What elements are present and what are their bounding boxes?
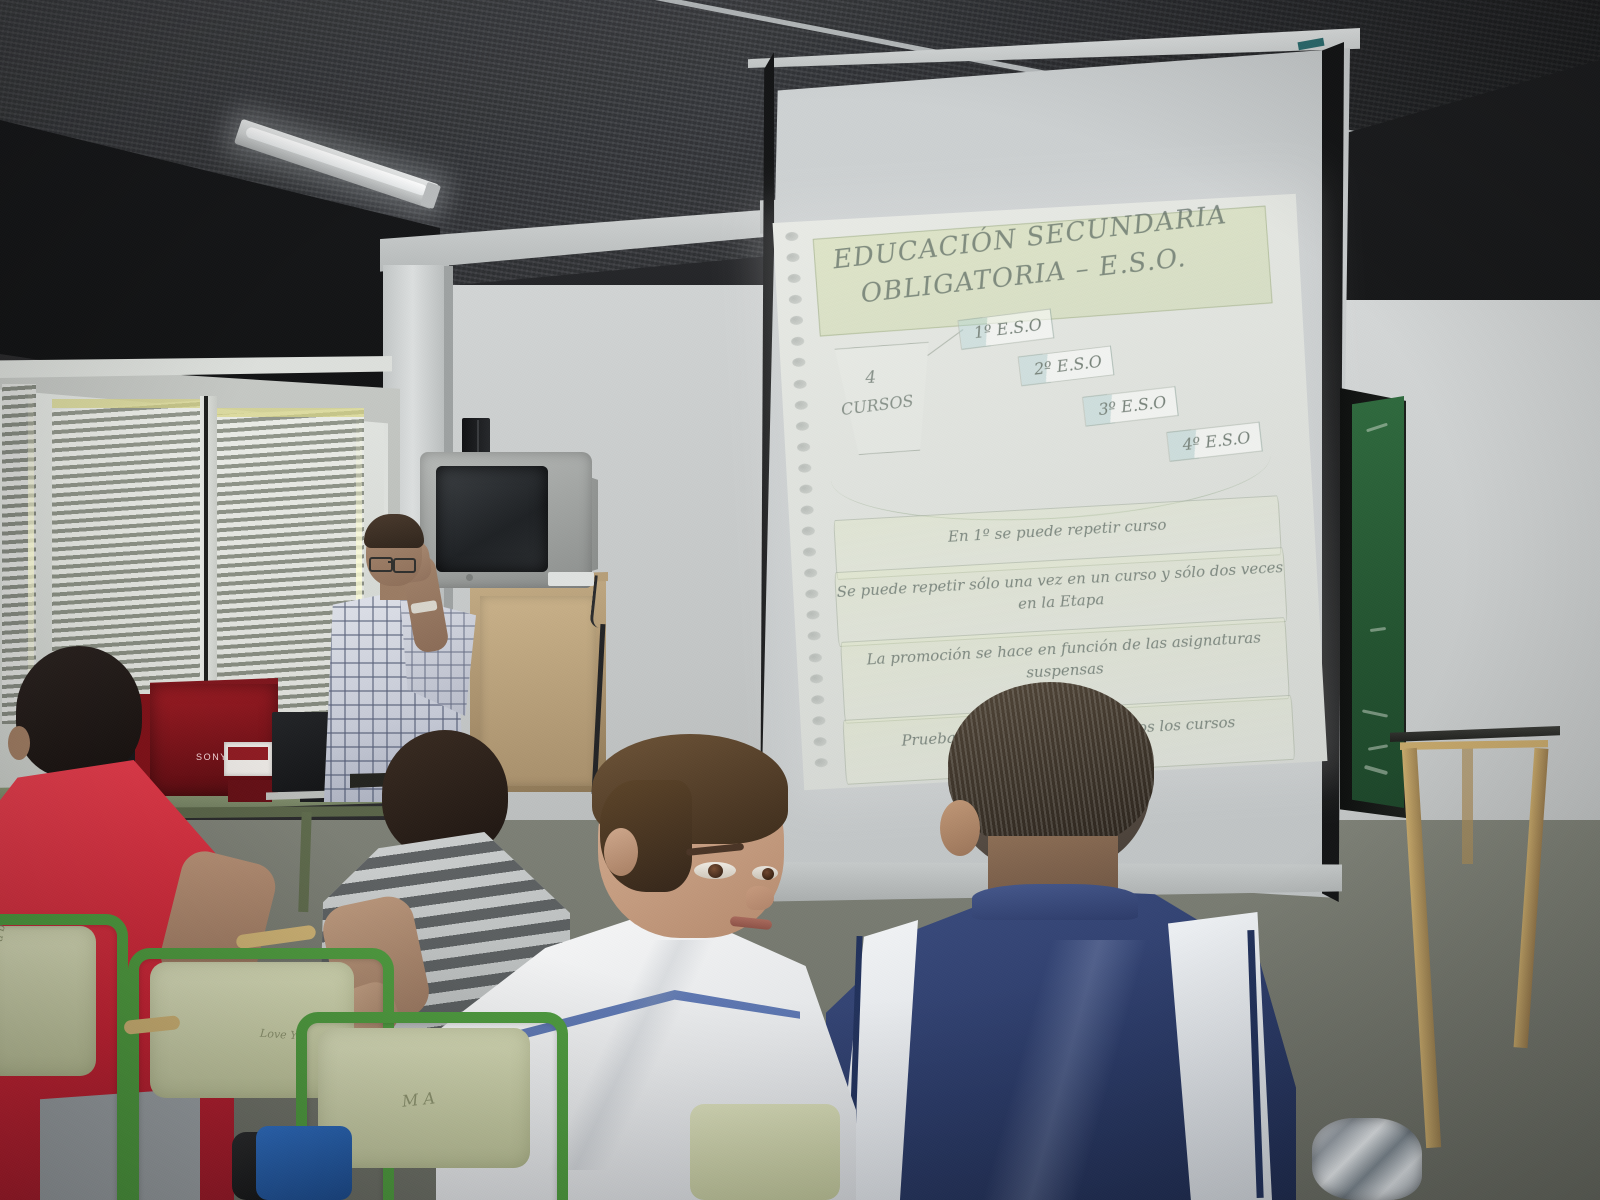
sony-box-lower-panel [228, 780, 272, 802]
man-navy-ear [940, 800, 980, 856]
crt-tv-screen [436, 466, 548, 572]
student-red-ear [8, 726, 30, 760]
blue-bag [256, 1126, 352, 1200]
punch-hole [812, 716, 825, 726]
chair-backrest-right[interactable] [690, 1104, 840, 1200]
course-label-2: 2º E.S.O [1018, 345, 1115, 386]
cursos-count: 4 [865, 368, 877, 389]
student-white-ear [604, 828, 638, 876]
punch-hole [802, 526, 815, 536]
chalk-mark [1364, 765, 1388, 775]
punch-hole [792, 358, 805, 368]
punch-hole [805, 589, 818, 599]
student-white-iris-left [708, 864, 723, 878]
sony-box-sticker-inner [228, 747, 268, 760]
punch-hole [806, 610, 819, 620]
punch-hole [791, 337, 804, 347]
chalk-mark [1362, 709, 1388, 717]
student-white-iris-right [762, 868, 774, 880]
chalk-mark [1370, 627, 1386, 632]
punch-hole [789, 295, 802, 305]
course-label-3: 3º E.S.O [1082, 386, 1179, 427]
punch-hole [786, 253, 799, 263]
student-red-head [16, 646, 142, 778]
blind-headrail-left [52, 399, 210, 408]
punch-hole [798, 463, 811, 473]
punch-hole [813, 737, 826, 747]
tracksuit-collar [972, 884, 1138, 920]
student-white-nose [746, 886, 774, 910]
punch-hole [799, 484, 812, 494]
punch-hole [815, 758, 828, 768]
green-chalkboard [1352, 396, 1404, 808]
punch-hole [809, 653, 822, 663]
chair-frame[interactable] [0, 914, 128, 1200]
blind-headrail-right [214, 408, 364, 417]
metallic-silver-bag [1312, 1118, 1422, 1200]
tracksuit-fabric-sheen [900, 940, 1230, 1200]
punch-hole [803, 547, 816, 557]
punch-hole [811, 695, 824, 705]
punch-hole [800, 505, 813, 515]
punch-hole [785, 232, 798, 242]
punch-hole [795, 400, 808, 410]
punch-hole [787, 274, 800, 284]
punch-hole [804, 568, 817, 578]
punch-hole [796, 421, 809, 431]
punch-hole [793, 379, 806, 389]
chalk-mark [1366, 423, 1388, 433]
crt-tv-power-button[interactable] [466, 574, 473, 581]
stool-leg-back [1462, 744, 1473, 864]
punch-hole [807, 631, 820, 641]
punch-hole [790, 316, 803, 326]
classroom-photo: SONY EDUCACIÓN SECUNDARIA OBLIGATORIA – … [0, 0, 1600, 1200]
punch-hole [810, 674, 823, 684]
punch-hole [797, 442, 810, 452]
av-device [548, 572, 594, 586]
chalk-mark [1368, 744, 1388, 750]
glasses-right-lens [393, 558, 416, 573]
glasses-bridge [388, 561, 395, 563]
glasses-left-lens [369, 557, 393, 572]
